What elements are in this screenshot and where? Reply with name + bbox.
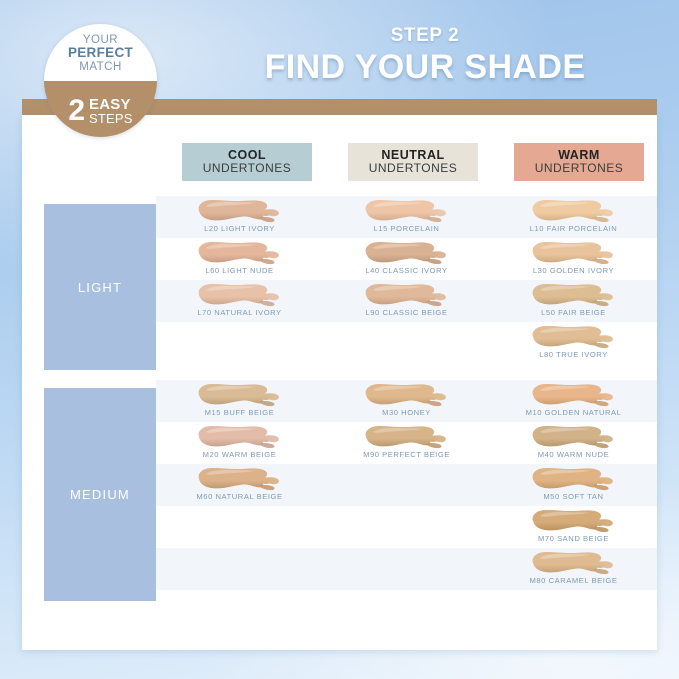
shade-swatch-icon <box>359 198 455 224</box>
shade-row: L80 TRUE IVORY <box>156 322 657 364</box>
shade-label: M90 PERFECT BEIGE <box>323 450 490 459</box>
shade-row: M60 NATURAL BEIGEM50 SOFT TAN <box>156 464 657 506</box>
shade-swatch-icon <box>359 240 455 266</box>
shade-label: L15 PORCELAIN <box>323 224 490 233</box>
page-title: FIND YOUR SHADE <box>190 48 660 86</box>
shade-row: M15 BUFF BEIGEM30 HONEYM10 GOLDEN NATURA… <box>156 380 657 422</box>
shade-grid-medium: M15 BUFF BEIGEM30 HONEYM10 GOLDEN NATURA… <box>156 380 657 590</box>
badge-steps-label: STEPS <box>89 112 133 125</box>
shade-row: L70 NATURAL IVORYL90 CLASSIC BEIGEL50 FA… <box>156 280 657 322</box>
shade-swatch-icon <box>526 324 622 350</box>
shade-cell-empty <box>323 464 490 506</box>
shade-cell-empty <box>156 322 323 364</box>
shade-swatch-icon <box>192 424 288 450</box>
shade-cell-m90[interactable]: M90 PERFECT BEIGE <box>323 422 490 464</box>
level-block-medium: MEDIUM <box>44 388 156 601</box>
shade-swatch-icon <box>192 466 288 492</box>
badge-easy-label: EASY <box>89 97 133 112</box>
shade-cell-empty <box>156 506 323 548</box>
shade-cell-empty <box>323 506 490 548</box>
column-header-warm-sub: UNDERTONES <box>535 162 624 175</box>
shade-swatch-icon <box>526 550 622 576</box>
shade-cell-empty <box>156 548 323 590</box>
shade-label: L30 GOLDEN IVORY <box>490 266 657 275</box>
shade-label: M70 SAND BEIGE <box>490 534 657 543</box>
shade-swatch-icon <box>192 240 288 266</box>
shade-swatch-icon <box>192 198 288 224</box>
shade-cell-l90[interactable]: L90 CLASSIC BEIGE <box>323 280 490 322</box>
shade-cell-l10[interactable]: L10 FAIR PORCELAIN <box>490 196 657 238</box>
shade-row: M80 CARAMEL BEIGE <box>156 548 657 590</box>
shade-label: L90 CLASSIC BEIGE <box>323 308 490 317</box>
shade-label: L40 CLASSIC IVORY <box>323 266 490 275</box>
shade-label: M20 WARM BEIGE <box>156 450 323 459</box>
badge-top: YOUR PERFECT MATCH <box>44 24 157 81</box>
shade-row: L20 LIGHT IVORYL15 PORCELAINL10 FAIR POR… <box>156 196 657 238</box>
level-label-medium: MEDIUM <box>70 487 130 502</box>
badge-line-match: MATCH <box>79 61 122 73</box>
shade-cell-l70[interactable]: L70 NATURAL IVORY <box>156 280 323 322</box>
shade-cell-m60[interactable]: M60 NATURAL BEIGE <box>156 464 323 506</box>
shade-row: M70 SAND BEIGE <box>156 506 657 548</box>
shade-label: L60 LIGHT NUDE <box>156 266 323 275</box>
shade-label: M50 SOFT TAN <box>490 492 657 501</box>
shade-swatch-icon <box>192 282 288 308</box>
shade-label: L20 LIGHT IVORY <box>156 224 323 233</box>
shade-cell-m50[interactable]: M50 SOFT TAN <box>490 464 657 506</box>
badge-line-perfect: PERFECT <box>68 46 133 61</box>
shade-row: L60 LIGHT NUDEL40 CLASSIC IVORYL30 GOLDE… <box>156 238 657 280</box>
shade-swatch-icon <box>192 382 288 408</box>
badge-bottom: 2 EASY STEPS <box>44 81 157 138</box>
column-header-neutral: NEUTRAL UNDERTONES <box>348 143 478 181</box>
shade-label: M60 NATURAL BEIGE <box>156 492 323 501</box>
shade-swatch-icon <box>359 282 455 308</box>
column-header-neutral-sub: UNDERTONES <box>369 162 458 175</box>
shade-cell-l50[interactable]: L50 FAIR BEIGE <box>490 280 657 322</box>
shade-label: M40 WARM NUDE <box>490 450 657 459</box>
shade-cell-l60[interactable]: L60 LIGHT NUDE <box>156 238 323 280</box>
column-header-cool: COOL UNDERTONES <box>182 143 312 181</box>
shade-cell-m10[interactable]: M10 GOLDEN NATURAL <box>490 380 657 422</box>
shade-cell-l30[interactable]: L30 GOLDEN IVORY <box>490 238 657 280</box>
shade-grid-light: L20 LIGHT IVORYL15 PORCELAINL10 FAIR POR… <box>156 196 657 364</box>
page-header: STEP 2 FIND YOUR SHADE <box>190 26 660 86</box>
column-header-cool-sub: UNDERTONES <box>203 162 292 175</box>
column-header-warm-name: WARM <box>558 148 600 162</box>
shade-cell-empty <box>323 548 490 590</box>
shade-swatch-icon <box>359 424 455 450</box>
shade-swatch-icon <box>526 466 622 492</box>
shade-cell-m20[interactable]: M20 WARM BEIGE <box>156 422 323 464</box>
shade-cell-m80[interactable]: M80 CARAMEL BEIGE <box>490 548 657 590</box>
step-label: STEP 2 <box>190 26 660 47</box>
shade-label: L50 FAIR BEIGE <box>490 308 657 317</box>
level-block-light: LIGHT <box>44 204 156 370</box>
shade-cell-m70[interactable]: M70 SAND BEIGE <box>490 506 657 548</box>
shade-cell-m40[interactable]: M40 WARM NUDE <box>490 422 657 464</box>
column-header-warm: WARM UNDERTONES <box>514 143 644 181</box>
shade-label: M30 HONEY <box>323 408 490 417</box>
shade-swatch-icon <box>526 382 622 408</box>
shade-label: L70 NATURAL IVORY <box>156 308 323 317</box>
shade-label: L80 TRUE IVORY <box>490 350 657 359</box>
shade-cell-l15[interactable]: L15 PORCELAIN <box>323 196 490 238</box>
shade-swatch-icon <box>526 282 622 308</box>
shade-row: M20 WARM BEIGEM90 PERFECT BEIGEM40 WARM … <box>156 422 657 464</box>
shade-label: M10 GOLDEN NATURAL <box>490 408 657 417</box>
shade-swatch-icon <box>526 198 622 224</box>
perfect-match-badge: YOUR PERFECT MATCH 2 EASY STEPS <box>44 24 157 137</box>
shade-cell-m30[interactable]: M30 HONEY <box>323 380 490 422</box>
shade-swatch-icon <box>526 424 622 450</box>
shade-swatch-icon <box>526 508 622 534</box>
shade-swatch-icon <box>526 240 622 266</box>
column-header-cool-name: COOL <box>228 148 266 162</box>
shade-cell-l40[interactable]: L40 CLASSIC IVORY <box>323 238 490 280</box>
shade-swatch-icon <box>359 382 455 408</box>
column-header-neutral-name: NEUTRAL <box>381 148 444 162</box>
shade-label: M80 CARAMEL BEIGE <box>490 576 657 585</box>
shade-cell-l80[interactable]: L80 TRUE IVORY <box>490 322 657 364</box>
shade-cell-m15[interactable]: M15 BUFF BEIGE <box>156 380 323 422</box>
shade-finder-page: STEP 2 FIND YOUR SHADE YOUR PERFECT MATC… <box>0 0 679 679</box>
shade-cell-empty <box>323 322 490 364</box>
badge-number: 2 <box>68 98 85 124</box>
shade-label: M15 BUFF BEIGE <box>156 408 323 417</box>
shade-label: L10 FAIR PORCELAIN <box>490 224 657 233</box>
shade-cell-l20[interactable]: L20 LIGHT IVORY <box>156 196 323 238</box>
level-label-light: LIGHT <box>78 280 122 295</box>
